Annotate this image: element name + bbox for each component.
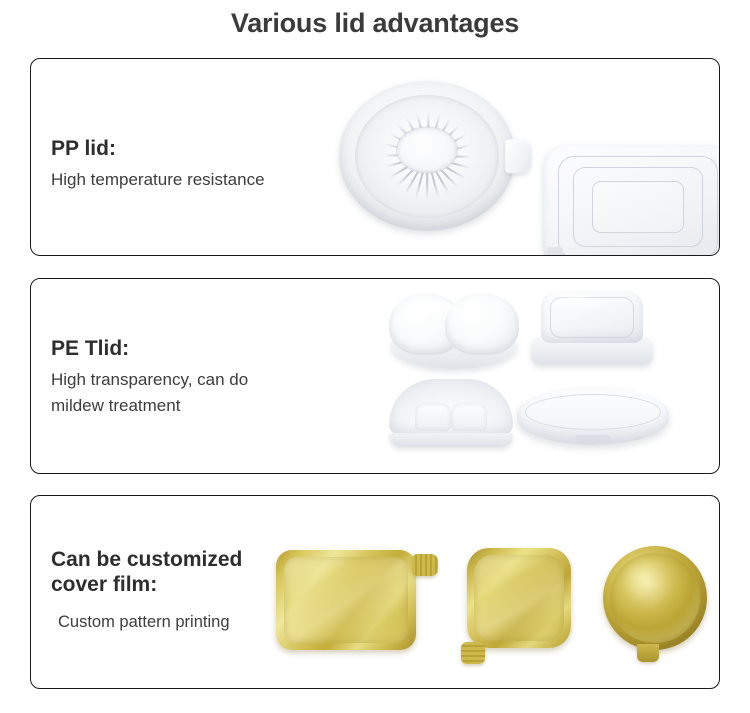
gold-square-foil-lid-image: [459, 544, 594, 664]
card-pe-lid: PE Tlid: High transparency, can do milde…: [30, 278, 720, 474]
gold-round-lid-pull-tab: [637, 644, 659, 662]
square-dome-pe-lid-image: [527, 289, 667, 373]
page-title: Various lid advantages: [0, 8, 750, 39]
heart-shaped-pe-lid-image: [383, 291, 533, 373]
rect-lid-notch: [547, 247, 563, 256]
rectangular-pp-lid-body: [543, 145, 720, 256]
card-pp-heading: PP lid:: [51, 137, 265, 162]
card-pp-lid: PP lid: High temperature resistance: [30, 58, 720, 256]
round-dome-lid-facet-left: [415, 403, 451, 431]
round-pp-lid-center: [397, 128, 457, 173]
round-pp-lid-image: [333, 71, 533, 246]
card-foil-heading: Can be customized cover film:: [51, 548, 242, 598]
heart-lid-lobe-right: [445, 293, 519, 355]
round-dome-lid-rim: [389, 433, 513, 447]
gold-round-lid-face: [610, 553, 699, 642]
gold-rectangular-foil-lid-image: [266, 544, 441, 662]
oval-lid-body: [517, 387, 669, 445]
round-dome-pe-lid-image: [383, 379, 523, 459]
card-pp-description: High temperature resistance: [51, 167, 265, 193]
rect-lid-ridge-inner: [592, 181, 683, 233]
round-dome-lid-facet-right: [451, 403, 487, 431]
card-pp-text-block: PP lid: High temperature resistance: [51, 137, 265, 193]
round-dome-lid-cap: [389, 379, 513, 435]
card-foil-text-block: Can be customized cover film: Custom pat…: [51, 548, 242, 635]
gold-round-lid-body: [603, 546, 707, 650]
square-dome-lid-body: [531, 291, 653, 365]
card-pe-text-block: PE Tlid: High transparency, can do milde…: [51, 337, 248, 419]
card-foil-description: Custom pattern printing: [51, 610, 242, 636]
round-pp-lid-body: [339, 81, 515, 231]
round-dome-lid-body: [389, 379, 513, 447]
gold-square-lid-body: [467, 548, 571, 648]
rectangular-pp-lid-image: [531, 141, 720, 256]
oval-flat-pe-lid-image: [515, 383, 675, 459]
gold-round-foil-lid-image: [591, 542, 720, 664]
heart-lid-body: [389, 293, 519, 369]
gold-square-lid-face: [474, 555, 563, 641]
square-dome-lid-highlight: [555, 297, 599, 311]
card-pe-heading: PE Tlid:: [51, 337, 248, 362]
heart-lid-highlight: [407, 301, 459, 321]
oval-lid-lip: [575, 435, 611, 443]
gold-rect-lid-body: [276, 550, 416, 650]
gold-square-lid-pull-tab: [461, 642, 485, 664]
gold-rect-lid-face: [284, 557, 407, 643]
gold-rect-lid-pull-tab: [412, 554, 438, 576]
card-pe-description: High transparency, can do mildew treatme…: [51, 367, 248, 420]
round-pp-lid-tab: [505, 139, 531, 173]
card-cover-film: Can be customized cover film: Custom pat…: [30, 495, 720, 689]
oval-lid-inner-panel: [525, 394, 662, 430]
